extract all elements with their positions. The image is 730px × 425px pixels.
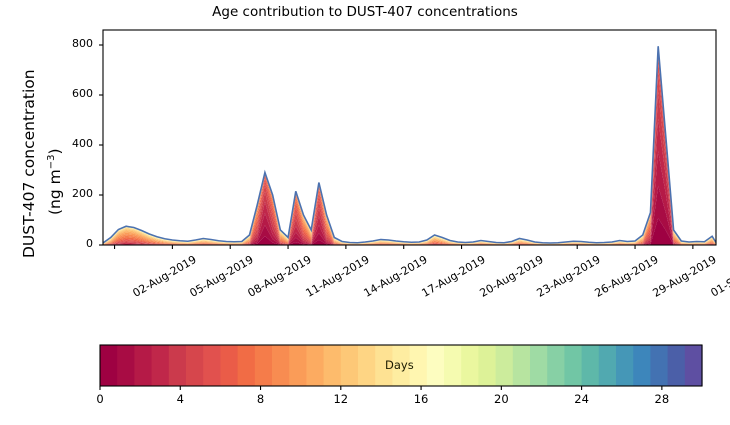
- area-band: [103, 46, 716, 243]
- y-tick-label: 0: [59, 237, 93, 250]
- area-band: [103, 46, 716, 243]
- area-band: [103, 151, 716, 245]
- colorbar-swatch: [668, 345, 686, 386]
- colorbar-tick-label: 16: [401, 392, 441, 406]
- area-band: [103, 46, 716, 243]
- area-band: [103, 119, 716, 245]
- colorbar-tick-label: 8: [241, 392, 281, 406]
- area-band: [103, 46, 716, 243]
- colorbar-swatch: [599, 345, 617, 386]
- chart-title: Age contribution to DUST-407 concentrati…: [0, 4, 730, 20]
- colorbar-swatch: [220, 345, 238, 386]
- stacked-area-bands: [103, 46, 716, 245]
- area-band: [103, 46, 716, 243]
- area-band: [103, 46, 716, 243]
- colorbar-title: Days: [385, 358, 414, 372]
- colorbar-swatch: [582, 345, 600, 386]
- area-band: [103, 60, 716, 245]
- colorbar-swatch: [530, 345, 548, 386]
- area-band: [103, 46, 716, 243]
- area-band: [103, 46, 716, 243]
- y-tick-label: 200: [59, 187, 93, 200]
- colorbar-swatch: [186, 345, 204, 386]
- colorbar-swatch: [513, 345, 531, 386]
- y-axis-label-units: (ng m−3): [46, 148, 64, 215]
- colorbar-swatch: [685, 345, 703, 386]
- area-band: [103, 46, 716, 244]
- colorbar-swatch: [427, 345, 445, 386]
- series-outline: [103, 46, 716, 243]
- colorbar-swatch: [152, 345, 170, 386]
- colorbar-swatch: [444, 345, 462, 386]
- colorbar-swatch: [272, 345, 290, 386]
- colorbar-swatch: [496, 345, 514, 386]
- area-band: [103, 46, 716, 243]
- area-band: [103, 46, 716, 243]
- colorbar-swatch: [289, 345, 307, 386]
- colorbar-swatch: [633, 345, 651, 386]
- colorbar-tick-label: 20: [481, 392, 521, 406]
- y-tick-label: 400: [59, 137, 93, 150]
- axes-frame: [103, 30, 716, 245]
- area-band: [103, 46, 716, 244]
- area-band: [103, 46, 716, 244]
- colorbar-swatch: [616, 345, 634, 386]
- area-band: [103, 46, 716, 243]
- y-tick-marks: [99, 45, 103, 245]
- area-band: [103, 49, 716, 245]
- colorbar-swatch: [255, 345, 273, 386]
- colorbar-swatch: [100, 345, 118, 386]
- colorbar-tick-label: 0: [80, 392, 120, 406]
- area-band: [103, 46, 716, 243]
- area-band: [103, 92, 716, 245]
- colorbar-tick-label: 28: [642, 392, 682, 406]
- colorbar-swatch: [324, 345, 342, 386]
- area-band: [103, 186, 716, 245]
- area-band: [103, 46, 716, 243]
- area-band: [103, 46, 716, 243]
- colorbar-tick-marks: [100, 386, 662, 390]
- x-tick-marks: [115, 245, 693, 249]
- area-band: [103, 46, 716, 243]
- colorbar-tick-label: 4: [160, 392, 200, 406]
- area-band: [103, 52, 716, 244]
- figure: Age contribution to DUST-407 concentrati…: [0, 0, 730, 425]
- colorbar-swatch: [203, 345, 221, 386]
- area-band: [103, 46, 716, 243]
- plot-canvas: [0, 0, 730, 425]
- y-axis-label-line1: DUST-407 concentration: [20, 69, 38, 258]
- colorbar-swatch: [169, 345, 187, 386]
- y-tick-label: 800: [59, 37, 93, 50]
- colorbar-swatch: [478, 345, 496, 386]
- colorbar-swatch: [238, 345, 256, 386]
- colorbar-tick-label: 24: [562, 392, 602, 406]
- area-band: [103, 46, 716, 244]
- area-band: [103, 47, 716, 244]
- colorbar-swatch: [461, 345, 479, 386]
- y-tick-label: 600: [59, 87, 93, 100]
- area-band: [103, 46, 716, 243]
- area-band: [103, 46, 716, 244]
- colorbar-tick-label: 12: [321, 392, 361, 406]
- colorbar-swatch: [650, 345, 668, 386]
- colorbar-swatch: [134, 345, 152, 386]
- y-axis-label: DUST-407 concentration: [20, 69, 38, 258]
- colorbar-swatch: [341, 345, 359, 386]
- colorbar-swatch: [564, 345, 582, 386]
- area-band: [103, 46, 716, 244]
- area-band: [103, 46, 716, 243]
- area-band: [103, 72, 716, 245]
- colorbar-swatch: [306, 345, 324, 386]
- y-axis-units-exponent: −3: [46, 155, 57, 170]
- area-band: [103, 47, 716, 245]
- colorbar-swatch: [358, 345, 376, 386]
- colorbar-swatch: [117, 345, 135, 386]
- colorbar-swatch: [547, 345, 565, 386]
